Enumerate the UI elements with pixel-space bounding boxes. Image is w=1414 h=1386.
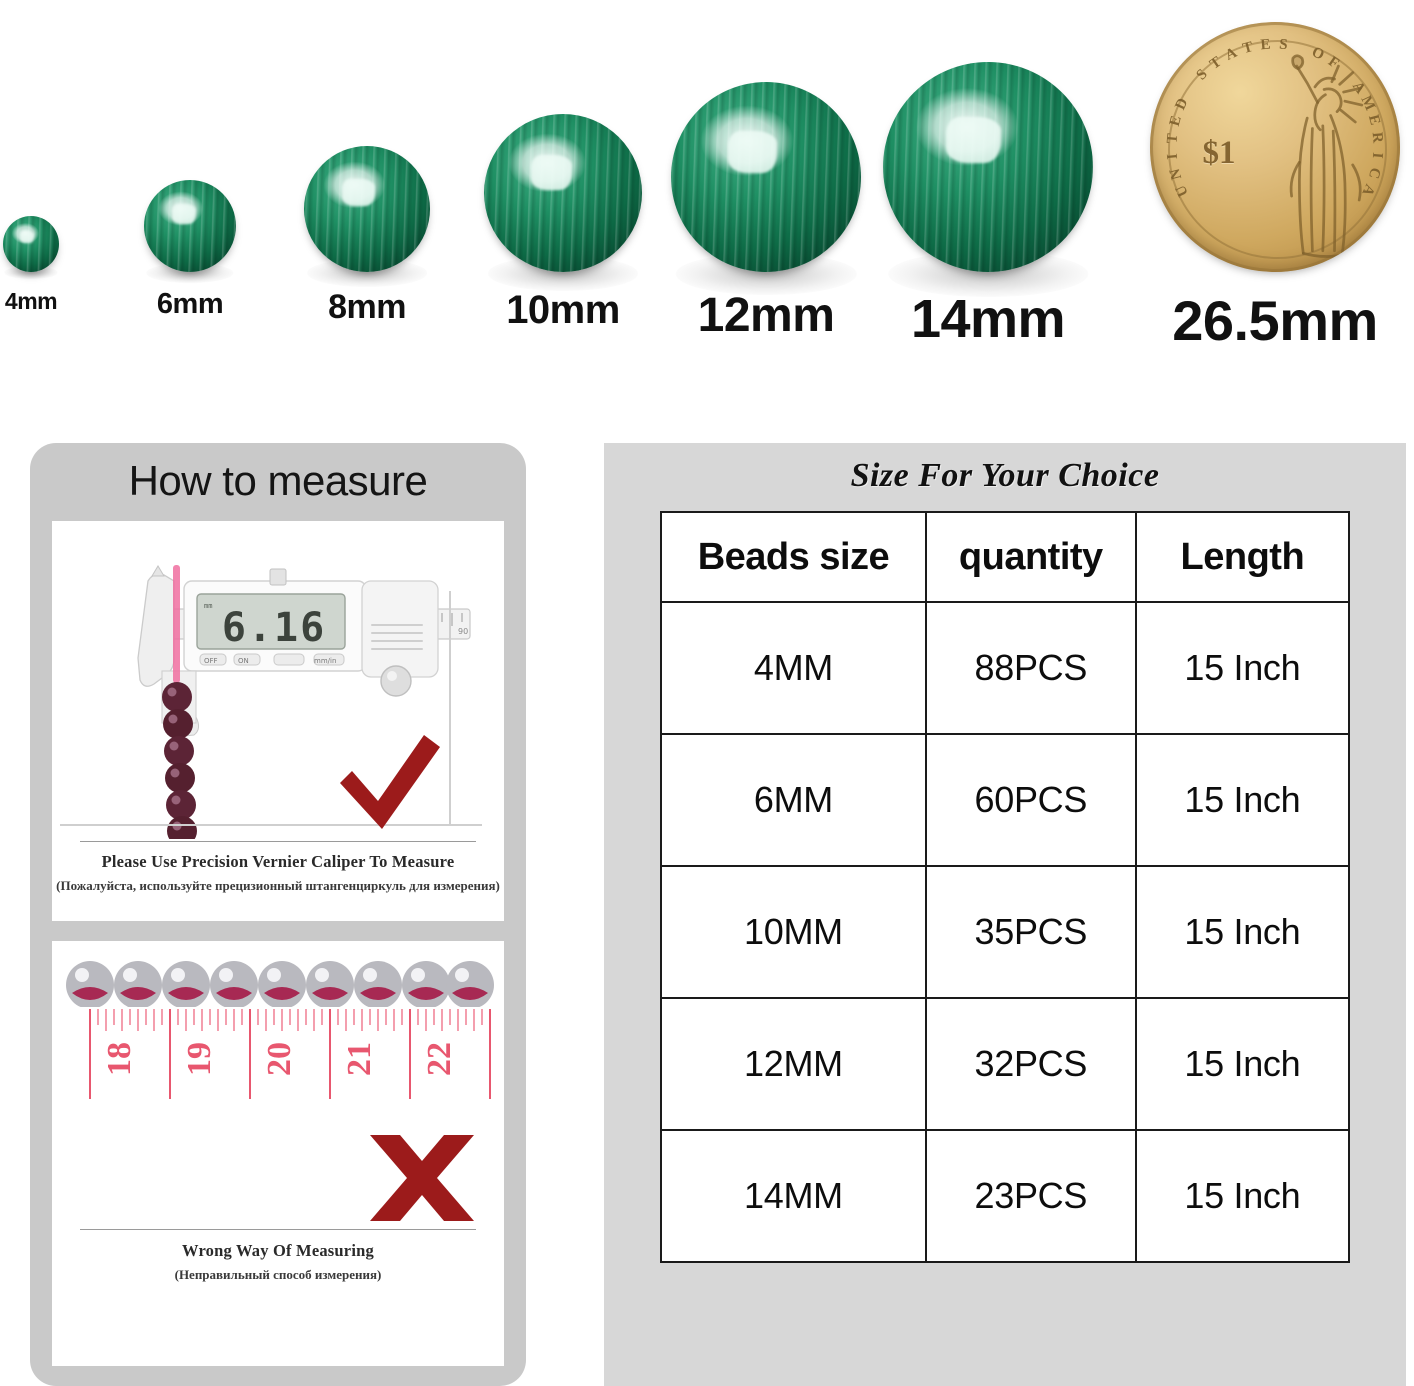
coin-rim-letter: I	[1165, 152, 1183, 160]
bead-6mm	[144, 180, 236, 272]
vernier-caliper-illustration: 70 80 90 mm 6.16	[52, 521, 504, 839]
table-row: 12MM32PCS15 Inch	[661, 998, 1349, 1130]
table-header-row: Beads sizequantityLength	[661, 512, 1349, 602]
bead-size-comparison-strip: UNITEDSTATESOFAMERICA $1 4mm6mm8m	[0, 0, 1414, 410]
cell-length: 15 Inch	[1136, 1130, 1349, 1262]
svg-text:20: 20	[261, 1042, 298, 1076]
table-header-cell-1: quantity	[926, 512, 1136, 602]
bead-8mm	[304, 146, 430, 272]
bead-size-label-4mm: 4mm	[5, 288, 57, 315]
caption-divider	[80, 1229, 476, 1230]
cell-beads-size: 12MM	[661, 998, 926, 1130]
wrong-cross-icon	[370, 1135, 474, 1221]
coin-denomination: $1	[1203, 135, 1236, 172]
cell-beads-size: 14MM	[661, 1130, 926, 1262]
cell-length: 15 Inch	[1136, 734, 1349, 866]
cell-beads-size: 10MM	[661, 866, 926, 998]
bead-size-label-26.5mm: 26.5mm	[1172, 288, 1378, 353]
cell-quantity: 32PCS	[926, 998, 1136, 1130]
cell-length: 15 Inch	[1136, 602, 1349, 734]
cell-beads-size: 6MM	[661, 734, 926, 866]
svg-text:22: 22	[421, 1042, 458, 1076]
how-to-measure-panel: How to measure 70 80 90	[30, 443, 526, 1386]
bead-size-label-10mm: 10mm	[506, 288, 620, 333]
size-table-panel: Size For Your Choice Beads sizequantityL…	[604, 443, 1406, 1386]
cell-quantity: 23PCS	[926, 1130, 1136, 1262]
cell-quantity: 88PCS	[926, 602, 1136, 734]
table-row: 14MM23PCS15 Inch	[661, 1130, 1349, 1262]
size-table: Beads sizequantityLength 4MM88PCS15 Inch…	[660, 511, 1350, 1263]
cell-quantity: 60PCS	[926, 734, 1136, 866]
correct-caption-ru: (Пожалуйста, используйте прецизионный шт…	[52, 878, 504, 894]
bead-size-label-14mm: 14mm	[911, 288, 1065, 350]
coin-rim-letter: S	[1194, 66, 1213, 85]
bead-size-label-8mm: 8mm	[328, 288, 406, 327]
coin-rim-letter: U	[1172, 181, 1192, 199]
svg-text:OFF: OFF	[204, 657, 218, 665]
table-header-cell-2: Length	[1136, 512, 1349, 602]
table-header-cell-0: Beads size	[661, 512, 926, 602]
correct-check-icon	[340, 735, 440, 829]
bead-strand-on-tape	[66, 961, 494, 1009]
correct-method-photo-card: 70 80 90 mm 6.16	[52, 521, 504, 921]
cell-quantity: 35PCS	[926, 866, 1136, 998]
us-dollar-coin: UNITEDSTATESOFAMERICA $1	[1150, 22, 1400, 272]
svg-text:21: 21	[341, 1042, 378, 1076]
bead-size-label-12mm: 12mm	[698, 288, 835, 343]
caliper-lcd-reading: 6.16	[222, 605, 326, 651]
table-row: 4MM88PCS15 Inch	[661, 602, 1349, 734]
caption-divider	[80, 841, 476, 842]
svg-text:ON: ON	[238, 657, 249, 665]
svg-text:mm/in: mm/in	[314, 657, 336, 665]
coin-column: UNITEDSTATESOFAMERICA $1	[1150, 22, 1400, 272]
coin-rim-letter: D	[1172, 95, 1192, 113]
statue-of-liberty-icon	[1250, 47, 1380, 262]
correct-caption-en: Please Use Precision Vernier Caliper To …	[52, 852, 504, 872]
cell-length: 15 Inch	[1136, 866, 1349, 998]
wrong-method-photo-card: 18 19 20 21 22 Wrong Way Of Measuring (Н…	[52, 941, 504, 1366]
soft-tape-measure-illustration: 18 19 20 21 22	[52, 941, 504, 1241]
bead-12mm	[671, 82, 861, 272]
how-to-measure-title: How to measure	[30, 457, 526, 505]
coin-rim-letter: T	[1207, 53, 1226, 73]
svg-text:mm: mm	[204, 602, 212, 610]
size-table-title: Size For Your Choice	[604, 457, 1406, 495]
coin-rim-letter: E	[1167, 113, 1186, 128]
table-body: 4MM88PCS15 Inch6MM60PCS15 Inch10MM35PCS1…	[661, 602, 1349, 1262]
bead-size-label-6mm: 6mm	[157, 288, 223, 321]
coin-rim-letter: T	[1164, 132, 1182, 144]
svg-text:90: 90	[458, 627, 468, 636]
coin-rim-letter: A	[1223, 44, 1241, 64]
bead-4mm	[3, 216, 59, 272]
cell-beads-size: 4MM	[661, 602, 926, 734]
bead-14mm	[883, 62, 1093, 272]
wrong-caption-en: Wrong Way Of Measuring	[52, 1241, 504, 1261]
bead-10mm	[484, 114, 642, 272]
table-row: 10MM35PCS15 Inch	[661, 866, 1349, 998]
svg-text:18: 18	[101, 1042, 138, 1076]
table-row: 6MM60PCS15 Inch	[661, 734, 1349, 866]
cell-length: 15 Inch	[1136, 998, 1349, 1130]
lower-section: How to measure 70 80 90	[0, 410, 1414, 1384]
wrong-caption-ru: (Неправильный способ измерения)	[52, 1267, 504, 1283]
coin-rim-letter: N	[1167, 165, 1186, 181]
svg-text:19: 19	[181, 1042, 218, 1076]
